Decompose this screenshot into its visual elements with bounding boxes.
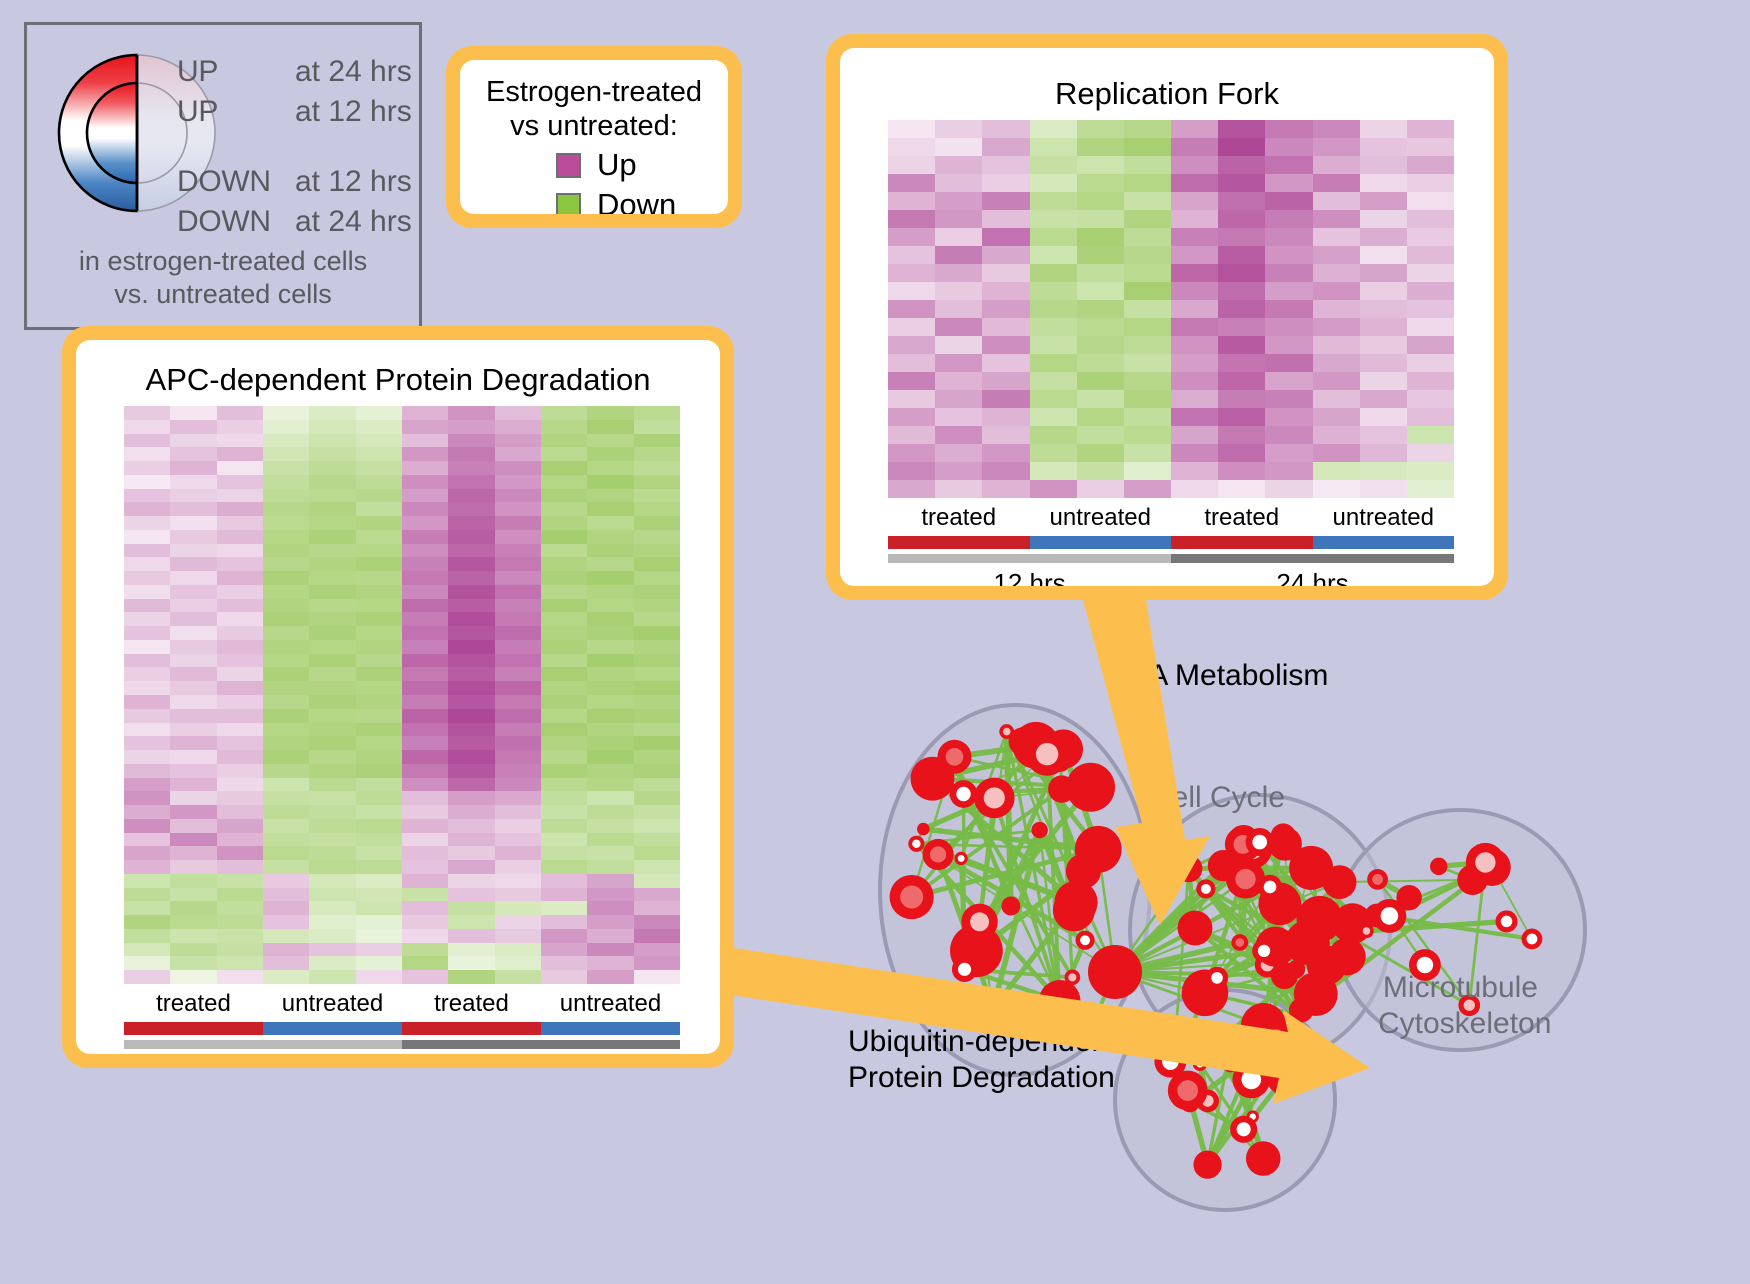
- heatmap-cell: [1124, 300, 1171, 318]
- legend-item-up: Up: [556, 147, 728, 183]
- heatmap-cell: [495, 929, 541, 943]
- heatmap-cell: [1077, 282, 1124, 300]
- network-node-core: [1475, 852, 1495, 872]
- heatmap-cell: [495, 709, 541, 723]
- heatmap-cell: [124, 654, 170, 668]
- heatmap-cell: [170, 833, 216, 847]
- legend-item-label: Down: [597, 187, 676, 214]
- heatmap-cell: [634, 681, 680, 695]
- heatmap-cell: [1218, 174, 1265, 192]
- heatmap-cell: [935, 462, 982, 480]
- network-node-core: [1162, 1053, 1179, 1070]
- heatmap-cell: [495, 557, 541, 571]
- heatmap-cell: [309, 736, 355, 750]
- heatmap-cell: [263, 846, 309, 860]
- heatmap-cell: [541, 489, 587, 503]
- heatmap-cell: [356, 956, 402, 970]
- heatmap-cell: [217, 736, 263, 750]
- heatmap-cell: [356, 846, 402, 860]
- heatmap-cell: [124, 956, 170, 970]
- heatmap-cell: [309, 778, 355, 792]
- treatment-bar-untreated-24: [1313, 536, 1455, 549]
- heatmap-cell: [217, 585, 263, 599]
- heatmap-cell: [356, 406, 402, 420]
- heatmap-cell: [587, 420, 633, 434]
- heatmap-cell: [170, 420, 216, 434]
- heatmap-cell: [541, 475, 587, 489]
- heatmap-cell: [1030, 444, 1077, 462]
- heatmap-cell: [124, 447, 170, 461]
- heatmap-cell: [263, 723, 309, 737]
- heatmap-cell: [541, 585, 587, 599]
- heatmap-cell: [263, 447, 309, 461]
- heatmap-cell: [888, 282, 935, 300]
- heatmap-cell: [1218, 318, 1265, 336]
- heatmap-cell: [541, 667, 587, 681]
- heatmap-cell: [309, 667, 355, 681]
- heatmap-cell: [541, 736, 587, 750]
- heatmap-cell: [1218, 336, 1265, 354]
- heatmap-cell: [634, 461, 680, 475]
- heatmap-cell: [1030, 408, 1077, 426]
- heatmap-cell: [263, 461, 309, 475]
- heatmap-cell: [170, 736, 216, 750]
- heatmap-cell: [170, 723, 216, 737]
- network-node-core: [1170, 1034, 1180, 1044]
- network-node-core: [1177, 1080, 1198, 1101]
- heatmap-cell: [1077, 444, 1124, 462]
- heatmap-cell: [1265, 192, 1312, 210]
- heatmap-cell: [634, 420, 680, 434]
- network-node: [1307, 945, 1347, 985]
- pathway-network-diagram: DNA Metabolism Cell Cycle Microtubule Cy…: [760, 600, 1750, 1279]
- heatmap-cell: [217, 888, 263, 902]
- network-node: [986, 1002, 999, 1015]
- heatmap-cell: [587, 970, 633, 984]
- heatmap-cell: [402, 681, 448, 695]
- heatmap-cell: [495, 667, 541, 681]
- heatmap-cell: [124, 434, 170, 448]
- heatmap-cell: [309, 502, 355, 516]
- heatmap-cell: [541, 901, 587, 915]
- heatmap-cell: [170, 626, 216, 640]
- heatmap-cell: [1030, 264, 1077, 282]
- heatmap-cell: [495, 970, 541, 984]
- heatmap-cell: [1077, 300, 1124, 318]
- heatmap-cell: [495, 695, 541, 709]
- heatmap-cell: [356, 516, 402, 530]
- heatmap-cell: [587, 805, 633, 819]
- heatmap-cell: [402, 750, 448, 764]
- heatmap-cell: [587, 956, 633, 970]
- heatmap-cell: [1360, 444, 1407, 462]
- network-node-core: [1258, 945, 1270, 957]
- heatmap-cell: [982, 426, 1029, 444]
- key-direction: UP: [177, 95, 295, 129]
- treatment-bar-treated-12: [124, 1022, 263, 1035]
- heatmap-cell: [309, 434, 355, 448]
- heatmap-cell: [982, 408, 1029, 426]
- replication-fork-time-labels: 12 hrs 24 hrs: [888, 568, 1454, 586]
- heatmap-cell: [402, 764, 448, 778]
- heatmap-cell: [124, 681, 170, 695]
- heatmap-cell: [170, 640, 216, 654]
- heatmap-cell: [888, 318, 935, 336]
- heatmap-cell: [309, 447, 355, 461]
- heatmap-cell: [356, 915, 402, 929]
- heatmap-cell: [217, 846, 263, 860]
- heatmap-cell: [935, 318, 982, 336]
- heatmap-cell: [263, 544, 309, 558]
- heatmap-cell: [309, 929, 355, 943]
- heatmap-cell: [1077, 426, 1124, 444]
- heatmap-cell: [263, 791, 309, 805]
- heatmap-cell: [495, 544, 541, 558]
- heatmap-cell: [495, 640, 541, 654]
- heatmap-cell: [587, 723, 633, 737]
- heatmap-cell: [1313, 480, 1360, 498]
- heatmap-cell: [448, 585, 494, 599]
- network-node: [1031, 822, 1047, 838]
- network-node-core: [1381, 907, 1399, 925]
- heatmap-cell: [1313, 138, 1360, 156]
- heatmap-cell: [356, 681, 402, 695]
- heatmap-cell: [309, 709, 355, 723]
- heatmap-cell: [1077, 390, 1124, 408]
- heatmap-cell: [309, 846, 355, 860]
- heatmap-cell: [495, 791, 541, 805]
- heatmap-cell: [448, 502, 494, 516]
- heatmap-cell: [541, 764, 587, 778]
- heatmap-cell: [448, 943, 494, 957]
- heatmap-cell: [888, 264, 935, 282]
- heatmap-cell: [1218, 408, 1265, 426]
- heatmap-cell: [448, 888, 494, 902]
- heatmap-cell: [1077, 336, 1124, 354]
- cluster-label-line-1: Ubiquitin-dependent: [848, 1024, 1117, 1060]
- heatmap-cell: [1077, 120, 1124, 138]
- network-node: [1268, 827, 1302, 861]
- heatmap-cell: [541, 970, 587, 984]
- heatmap-cell: [309, 956, 355, 970]
- heatmap-cell: [541, 420, 587, 434]
- heatmap-cell: [1218, 444, 1265, 462]
- heatmap-cell: [1265, 300, 1312, 318]
- heatmap-cell: [495, 736, 541, 750]
- heatmap-cell: [495, 599, 541, 613]
- heatmap-cell: [587, 599, 633, 613]
- caption-line-1: in estrogen-treated cells: [27, 245, 419, 278]
- heatmap-cell: [935, 336, 982, 354]
- heatmap-cell: [309, 475, 355, 489]
- heatmap-cell: [587, 778, 633, 792]
- heatmap-cell: [541, 791, 587, 805]
- heatmap-cell: [587, 915, 633, 929]
- heatmap-cell: [1124, 228, 1171, 246]
- heatmap-cell: [1077, 480, 1124, 498]
- heatmap-cell: [1360, 390, 1407, 408]
- heatmap-cell: [1313, 228, 1360, 246]
- heatmap-cell: [1124, 192, 1171, 210]
- heatmap-cell: [587, 654, 633, 668]
- heatmap-cell: [217, 709, 263, 723]
- heatmap-cell: [1407, 480, 1454, 498]
- heatmap-cell: [495, 819, 541, 833]
- heatmap-cell: [170, 434, 216, 448]
- heatmap-cell: [217, 681, 263, 695]
- heatmap-cell: [634, 778, 680, 792]
- heatmap-cell: [541, 695, 587, 709]
- heatmap-cell: [935, 192, 982, 210]
- heatmap-cell: [124, 626, 170, 640]
- panel-title: Replication Fork: [840, 76, 1494, 112]
- heatmap-cell: [309, 764, 355, 778]
- heatmap-cell: [935, 354, 982, 372]
- heatmap-cell: [495, 475, 541, 489]
- heatmap-cell: [170, 860, 216, 874]
- heatmap-cell: [263, 750, 309, 764]
- heatmap-cell: [1407, 408, 1454, 426]
- heatmap-cell: [1171, 228, 1218, 246]
- heatmap-cell: [1077, 372, 1124, 390]
- heatmap-cell: [1171, 246, 1218, 264]
- heatmap-cell: [495, 571, 541, 585]
- network-node-core: [970, 912, 989, 931]
- network-node-core: [930, 846, 946, 862]
- heatmap-cell: [1407, 192, 1454, 210]
- heatmap-cell: [309, 860, 355, 874]
- heatmap-cell: [402, 667, 448, 681]
- heatmap-cell: [1265, 156, 1312, 174]
- heatmap-cell: [263, 833, 309, 847]
- heatmap-cell: [935, 120, 982, 138]
- heatmap-cell: [1313, 282, 1360, 300]
- key-time: at 12 hrs: [295, 165, 412, 199]
- heatmap-cell: [1407, 444, 1454, 462]
- heatmap-cell: [448, 530, 494, 544]
- heatmap-cell: [170, 406, 216, 420]
- heatmap-cell: [1171, 210, 1218, 228]
- heatmap-cell: [448, 695, 494, 709]
- heatmap-cell: [124, 778, 170, 792]
- heatmap-cell: [448, 681, 494, 695]
- heatmap-cell: [1313, 192, 1360, 210]
- heatmap-cell: [587, 406, 633, 420]
- heatmap-cell: [1171, 318, 1218, 336]
- heatmap-cell: [448, 557, 494, 571]
- heatmap-cell: [1077, 174, 1124, 192]
- heatmap-cell: [402, 970, 448, 984]
- network-node: [1193, 1151, 1221, 1179]
- heatmap-cell: [587, 516, 633, 530]
- heatmap-cell: [263, 667, 309, 681]
- heatmap-cell: [634, 667, 680, 681]
- heatmap-cell: [124, 943, 170, 957]
- heatmap-cell: [263, 571, 309, 585]
- heatmap-cell: [634, 901, 680, 915]
- heatmap-cell: [1313, 354, 1360, 372]
- heatmap-cell: [356, 640, 402, 654]
- heatmap-cell: [1030, 300, 1077, 318]
- heatmap-cell: [982, 354, 1029, 372]
- heatmap-cell: [1265, 390, 1312, 408]
- network-node-core: [1372, 874, 1383, 885]
- heatmap-cell: [124, 764, 170, 778]
- heatmap-cell: [1265, 462, 1312, 480]
- heatmap-cell: [217, 695, 263, 709]
- heatmap-cell: [1077, 192, 1124, 210]
- heatmap-cell: [888, 156, 935, 174]
- heatmap-cell: [356, 557, 402, 571]
- heatmap-cell: [170, 475, 216, 489]
- network-node-core: [1501, 916, 1513, 928]
- heatmap-cell: [356, 654, 402, 668]
- heatmap-cell: [309, 544, 355, 558]
- heatmap-cell: [170, 461, 216, 475]
- heatmap-cell: [448, 833, 494, 847]
- heatmap-cell: [356, 475, 402, 489]
- heatmap-cell: [124, 805, 170, 819]
- heatmap-cell: [448, 434, 494, 448]
- heatmap-cell: [402, 475, 448, 489]
- heatmap-cell: [1171, 354, 1218, 372]
- heatmap-cell: [1077, 210, 1124, 228]
- network-node-core: [984, 787, 1005, 808]
- heatmap-cell: [1407, 264, 1454, 282]
- heatmap-cell: [402, 888, 448, 902]
- heatmap-cell: [1077, 354, 1124, 372]
- heatmap-cell: [982, 444, 1029, 462]
- heatmap-cell: [263, 626, 309, 640]
- network-node-core: [1201, 884, 1211, 894]
- heatmap-cell: [309, 943, 355, 957]
- heatmap-cell: [309, 750, 355, 764]
- heatmap-cell: [634, 571, 680, 585]
- heatmap-cell: [124, 723, 170, 737]
- heatmap-cell: [587, 736, 633, 750]
- heatmap-cell: [541, 599, 587, 613]
- heatmap-cell: [1077, 318, 1124, 336]
- heatmap-cell: [217, 901, 263, 915]
- heatmap-cell: [124, 461, 170, 475]
- heatmap-cell: [402, 915, 448, 929]
- heatmap-cell: [1265, 444, 1312, 462]
- heatmap-cell: [170, 612, 216, 626]
- heatmap-cell: [1360, 174, 1407, 192]
- heatmap-cell: [263, 434, 309, 448]
- network-node-core: [1266, 1029, 1286, 1049]
- treatment-bar-treated-12: [888, 536, 1030, 549]
- heatmap-cell: [263, 406, 309, 420]
- key-row-down-12: DOWN at 12 hrs: [177, 165, 417, 205]
- heatmap-cell: [1077, 138, 1124, 156]
- heatmap-cell: [1313, 120, 1360, 138]
- legend-title: Estrogen-treated vs untreated:: [460, 76, 728, 143]
- heatmap-cell: [309, 530, 355, 544]
- heatmap-cell: [1218, 282, 1265, 300]
- heatmap-cell: [634, 626, 680, 640]
- network-node: [1287, 960, 1305, 978]
- heatmap-cell: [448, 709, 494, 723]
- apc-time-bar: [124, 1040, 680, 1049]
- group-label: untreated: [541, 990, 680, 1018]
- heatmap-cell: [402, 723, 448, 737]
- heatmap-cell: [1124, 444, 1171, 462]
- down-swatch-icon: [556, 193, 581, 214]
- heatmap-cell: [448, 599, 494, 613]
- heatmap-cell: [1313, 462, 1360, 480]
- heatmap-cell: [263, 475, 309, 489]
- heatmap-cell: [1313, 408, 1360, 426]
- heatmap-cell: [1030, 390, 1077, 408]
- heatmap-cell: [448, 654, 494, 668]
- heatmap-cell: [1407, 210, 1454, 228]
- heatmap-cell: [1077, 228, 1124, 246]
- heatmap-cell: [217, 475, 263, 489]
- heatmap-cell: [982, 120, 1029, 138]
- heatmap-cell: [634, 764, 680, 778]
- heatmap-cell: [935, 156, 982, 174]
- heatmap-cell: [217, 929, 263, 943]
- heatmap-cell: [587, 434, 633, 448]
- heatmap-cell: [448, 736, 494, 750]
- heatmap-cell: [541, 502, 587, 516]
- heatmap-cell: [170, 530, 216, 544]
- heatmap-cell: [1265, 372, 1312, 390]
- legend-item-label: Up: [597, 147, 637, 183]
- heatmap-cell: [217, 434, 263, 448]
- heatmap-cell: [935, 282, 982, 300]
- heatmap-cell: [1407, 462, 1454, 480]
- heatmap-cell: [124, 420, 170, 434]
- heatmap-cell: [495, 681, 541, 695]
- heatmap-cell: [1077, 264, 1124, 282]
- heatmap-cell: [587, 833, 633, 847]
- heatmap-cell: [541, 516, 587, 530]
- heatmap-cell: [541, 943, 587, 957]
- heatmap-cell: [1171, 336, 1218, 354]
- heatmap-cell: [356, 530, 402, 544]
- heatmap-cell: [448, 447, 494, 461]
- heatmap-cell: [217, 640, 263, 654]
- heatmap-cell: [495, 612, 541, 626]
- heatmap-cell: [1124, 372, 1171, 390]
- group-label: treated: [1171, 504, 1313, 532]
- heatmap-cell: [935, 246, 982, 264]
- heatmap-cell: [124, 695, 170, 709]
- treatment-bar-treated-24: [1171, 536, 1313, 549]
- heatmap-cell: [1313, 336, 1360, 354]
- heatmap-cell: [1124, 210, 1171, 228]
- heatmap-cell: [1313, 246, 1360, 264]
- group-label: treated: [402, 990, 541, 1018]
- heatmap-cell: [124, 612, 170, 626]
- heatmap-cell: [495, 516, 541, 530]
- heatmap-cell: [356, 750, 402, 764]
- heatmap-cell: [217, 599, 263, 613]
- heatmap-cell: [263, 956, 309, 970]
- heatmap-cell: [495, 406, 541, 420]
- heatmap-cell: [217, 791, 263, 805]
- heatmap-cell: [1218, 120, 1265, 138]
- heatmap-cell: [356, 764, 402, 778]
- heatmap-cell: [170, 667, 216, 681]
- heatmap-cell: [448, 475, 494, 489]
- heatmap-cell: [309, 585, 355, 599]
- heatmap-cell: [634, 860, 680, 874]
- heatmap-cell: [1030, 246, 1077, 264]
- heatmap-cell: [1265, 408, 1312, 426]
